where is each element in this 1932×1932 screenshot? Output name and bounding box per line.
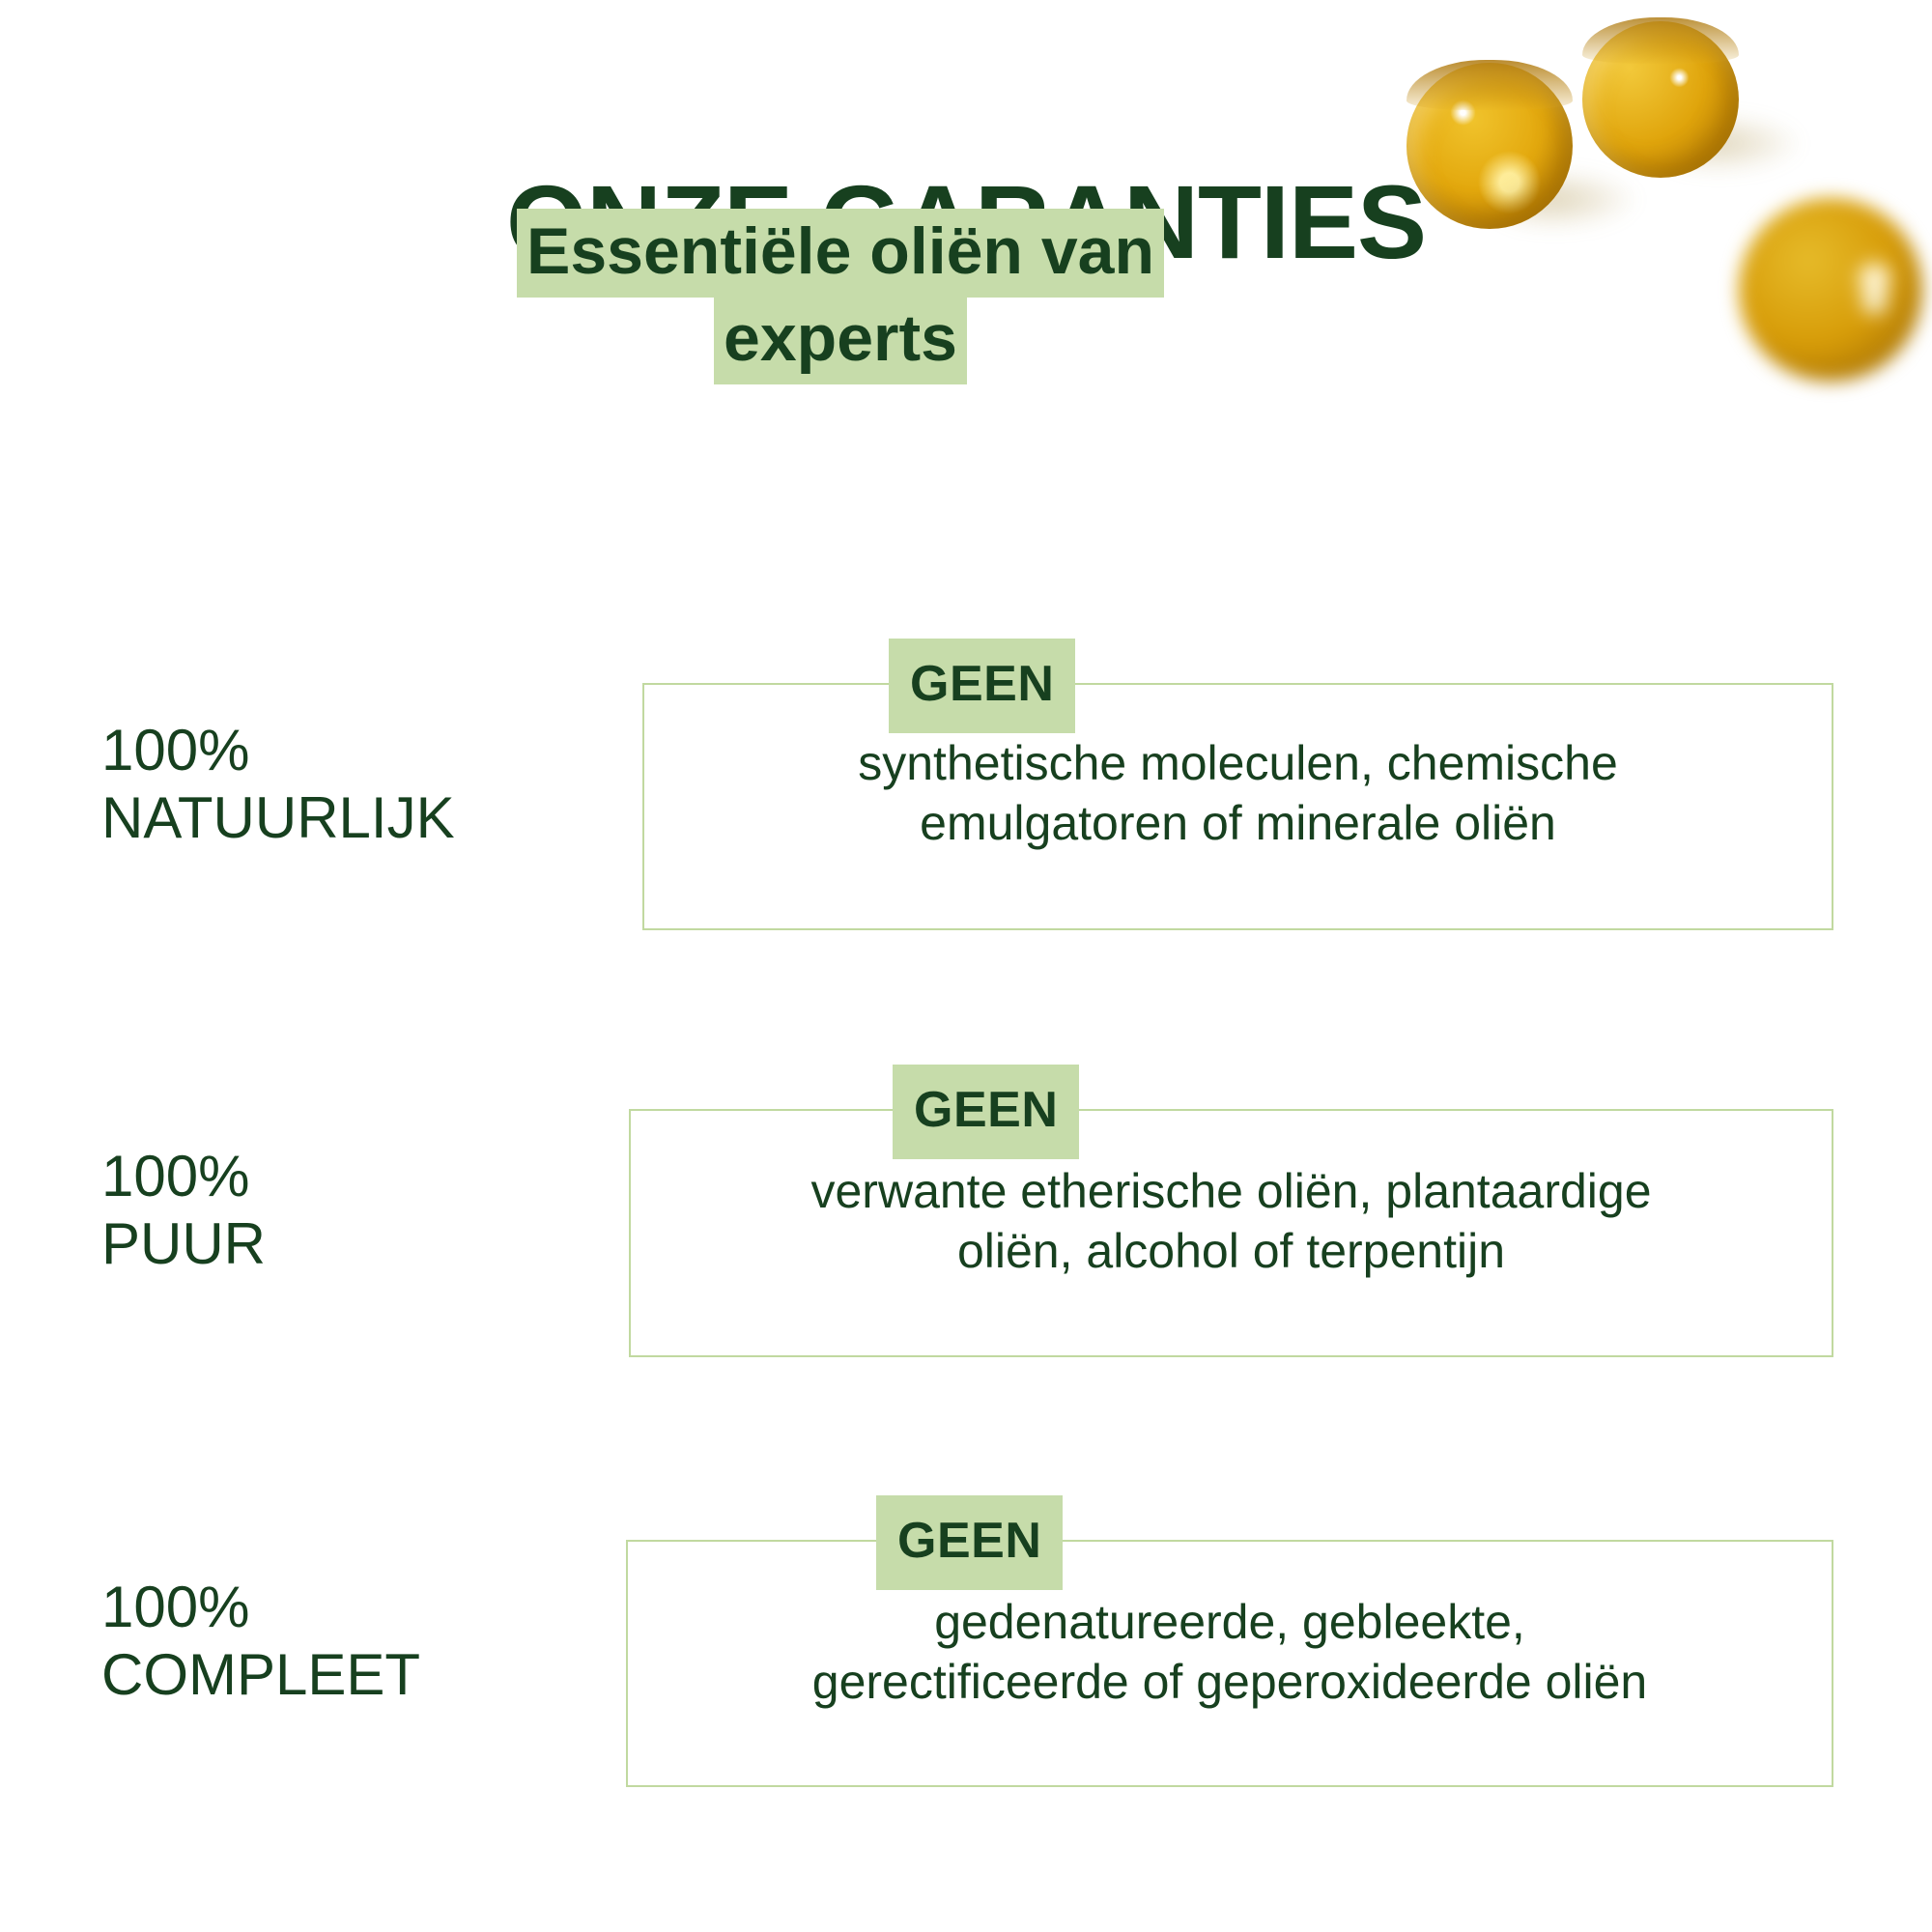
guarantee-text-line-2: oliën, alcohol of terpentijn (957, 1224, 1505, 1278)
guarantee-text-line-1: gedenatureerde, gebleekte, (934, 1595, 1525, 1649)
guarantee-text: gedenatureerde, gebleekte, gerectificeer… (661, 1592, 1799, 1712)
guarantee-label-line-2: COMPLEET (101, 1642, 420, 1707)
guarantee-box: GEEN synthetische moleculen, chemische e… (642, 683, 1833, 930)
status-badge: GEEN (876, 1495, 1063, 1590)
subtitle-line-1: Essentiële oliën van (517, 209, 1164, 298)
guarantee-label-line-1: 100% (101, 1575, 249, 1639)
guarantee-label: 100% NATUURLIJK (101, 717, 604, 852)
guarantee-label: 100% COMPLEET (101, 1574, 604, 1709)
subtitle-line-2: experts (714, 296, 967, 384)
guarantee-box: GEEN verwante etherische oliën, plantaar… (629, 1109, 1833, 1357)
guarantee-label-line-2: PUUR (101, 1211, 266, 1276)
guarantee-text-line-1: verwante etherische oliën, plantaardige (811, 1164, 1652, 1218)
guarantees-page: ONZE GARANTIES Essentiële oliën van expe… (0, 0, 1932, 1932)
guarantee-label-line-2: NATUURLIJK (101, 785, 455, 850)
oil-capsule-icon (1582, 21, 1739, 178)
page-subtitle: Essentiële oliën van experts (319, 208, 1362, 383)
status-badge: GEEN (889, 639, 1075, 733)
guarantee-text: verwante etherische oliën, plantaardige … (664, 1161, 1799, 1281)
guarantee-label: 100% PUUR (101, 1143, 604, 1278)
guarantee-box: GEEN gedenatureerde, gebleekte, gerectif… (626, 1540, 1833, 1787)
oil-capsules-decoration (1314, 0, 1932, 696)
guarantee-text-line-1: synthetische moleculen, chemische (858, 736, 1618, 790)
oil-capsule-seam (1406, 60, 1573, 110)
status-badge: GEEN (893, 1065, 1079, 1159)
oil-capsule-seam (1582, 17, 1739, 64)
guarantee-label-line-1: 100% (101, 1144, 249, 1208)
guarantee-label-line-1: 100% (101, 718, 249, 782)
guarantee-text: synthetische moleculen, chemische emulga… (677, 733, 1799, 853)
guarantee-text-line-2: gerectificeerde of geperoxideerde oliën (812, 1655, 1647, 1709)
oil-capsule-shadow (1658, 118, 1803, 174)
guarantee-text-line-2: emulgatoren of minerale oliën (920, 796, 1556, 850)
